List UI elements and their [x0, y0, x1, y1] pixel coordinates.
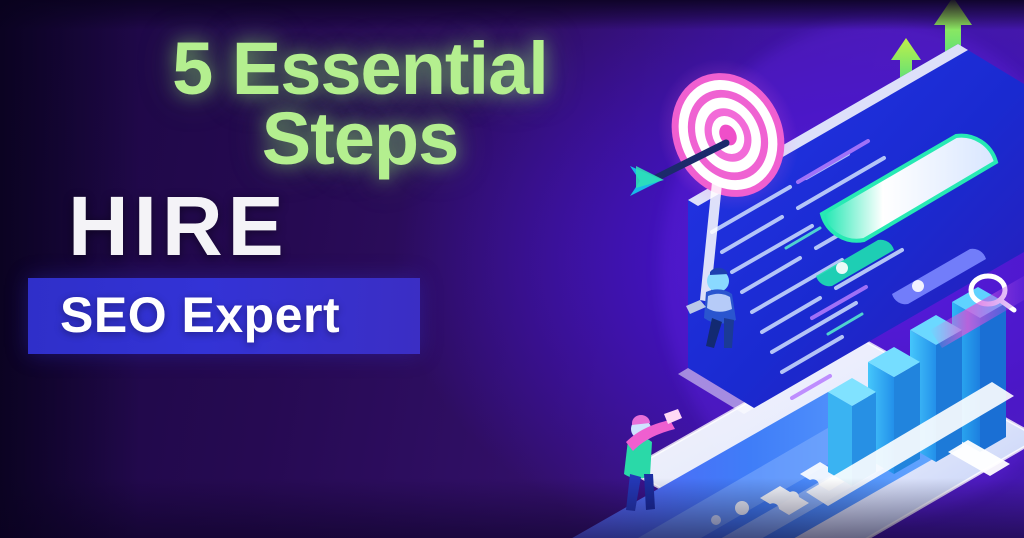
page-title: HIRE	[68, 184, 289, 268]
bottom-vignette	[0, 478, 1024, 538]
top-vignette	[0, 0, 1024, 30]
subtitle-text: SEO Expert	[60, 290, 340, 340]
poster-canvas: 5 Essential Steps HIRE SEO Expert	[0, 0, 1024, 538]
